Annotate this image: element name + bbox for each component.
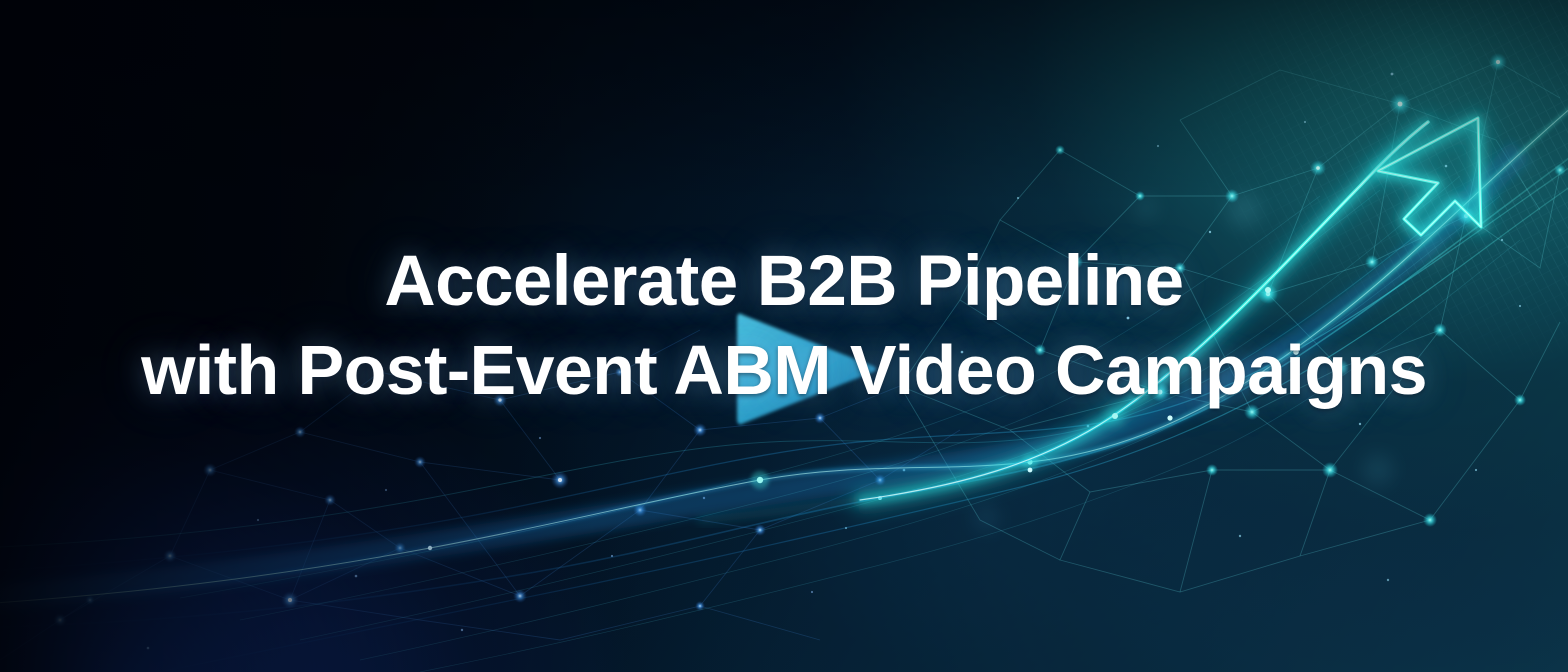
headline-line-1: Accelerate B2B Pipeline xyxy=(0,238,1568,326)
hero-banner: Accelerate B2B Pipeline with Post-Event … xyxy=(0,0,1568,672)
headline: Accelerate B2B Pipeline with Post-Event … xyxy=(0,238,1568,414)
headline-line-2: with Post-Event ABM Video Campaigns xyxy=(0,326,1568,414)
